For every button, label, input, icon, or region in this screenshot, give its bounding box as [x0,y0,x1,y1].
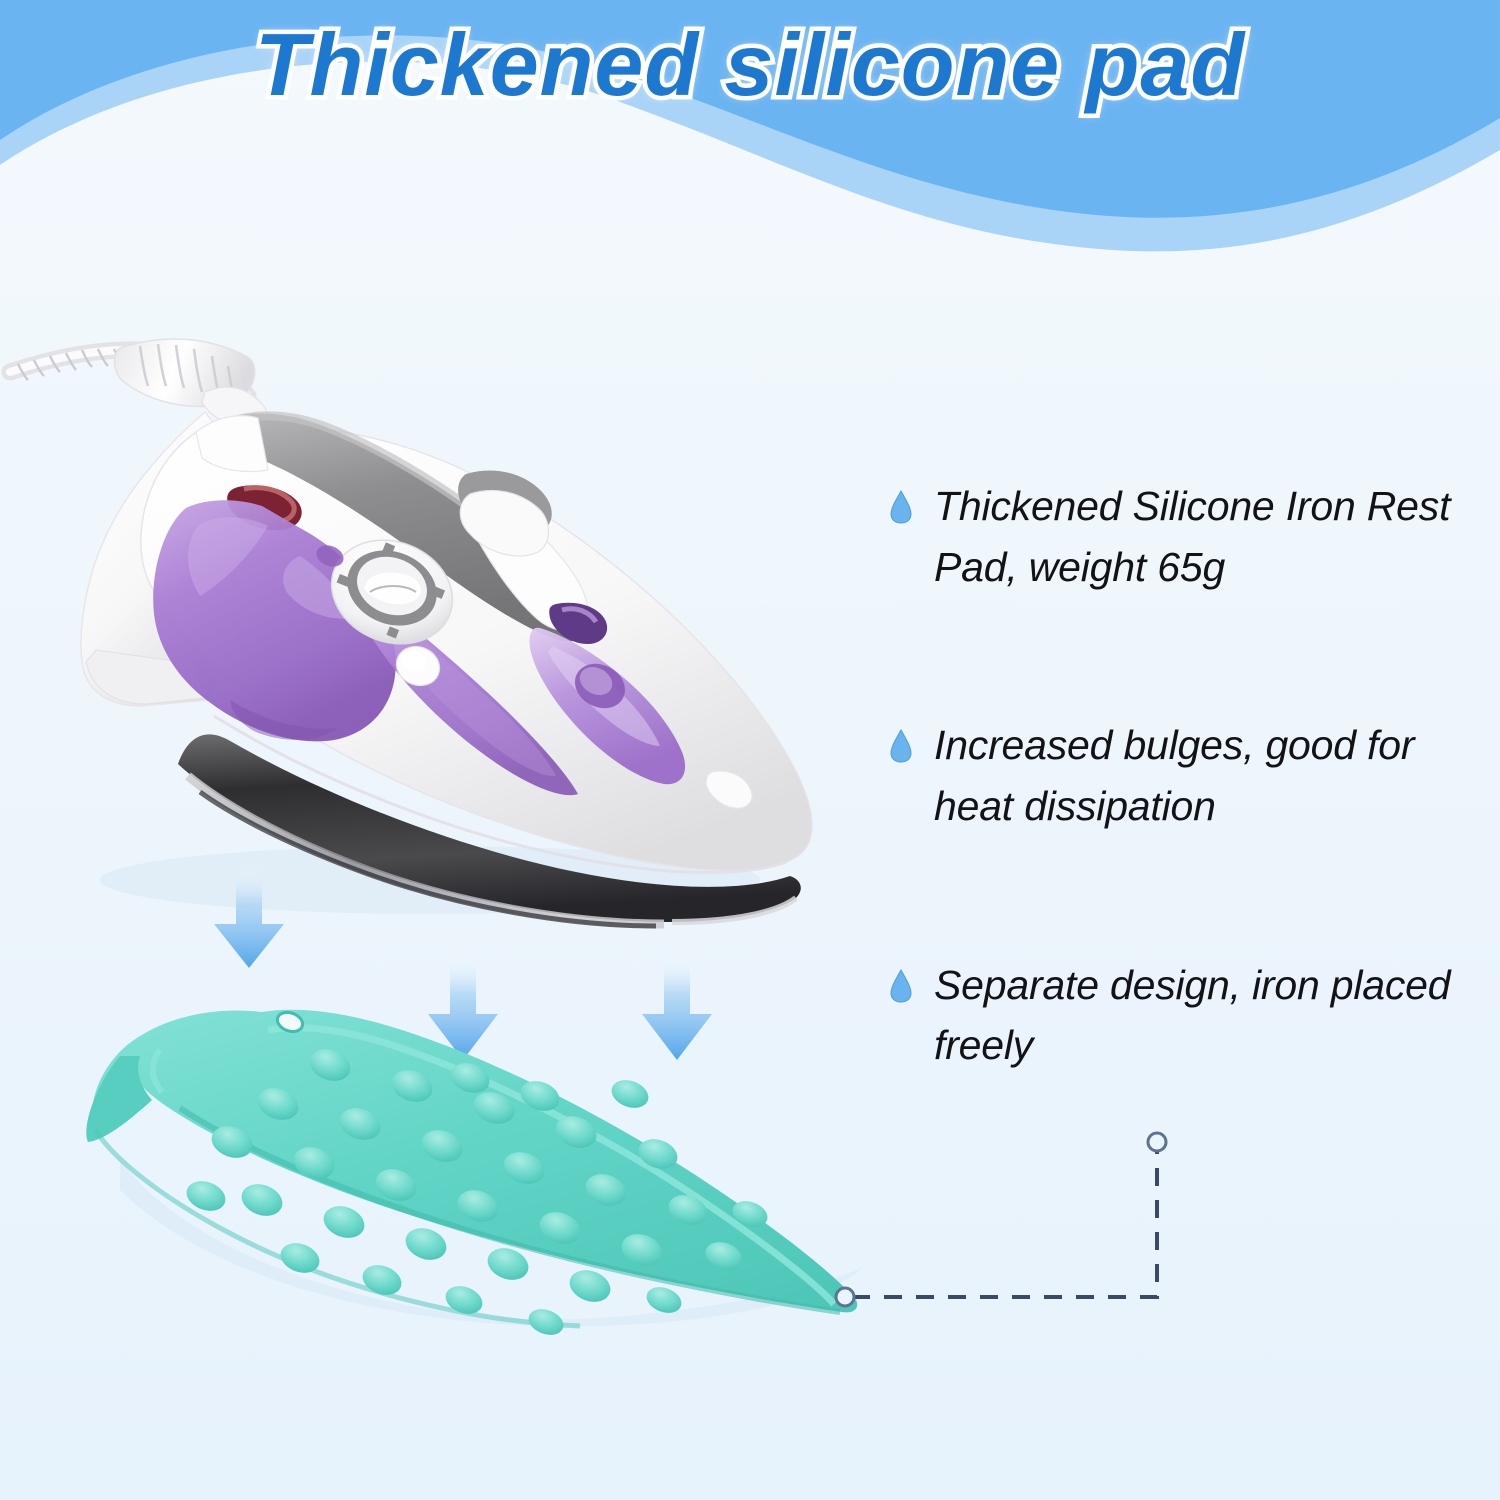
iron-spray-button [390,640,446,693]
water-drop-icon [890,969,912,1003]
pad-bumps [182,1044,771,1340]
downward-arrows [214,864,712,1060]
feature-text: Increased bulges, good for heat dissipat… [934,715,1475,836]
iron-handle [209,414,591,642]
infographic-canvas: Thickened silicone pad Thickened silicon… [0,0,1500,1500]
water-drop-icon [890,490,912,524]
list-item: Separate design, iron placed freely [890,955,1475,1076]
header-banner: Thickened silicone pad Thickened silicon… [0,0,1500,275]
pad-side-tab [86,1056,152,1142]
page-title: Thickened silicone pad [0,14,1500,116]
feature-text: Separate design, iron placed freely [934,955,1475,1076]
silicone-iron-rest-pad [86,1009,862,1339]
power-cord [10,339,268,430]
water-drop-icon [890,729,912,763]
feature-text: Thickened Silicone Iron Rest Pad, weight… [934,476,1475,597]
iron-body [141,425,812,871]
pad-body [92,1010,857,1313]
callout-endpoint-marker [836,1288,854,1306]
list-item: Thickened Silicone Iron Rest Pad, weight… [890,476,1475,597]
iron-steam-button [458,470,552,536]
iron-spray-nozzle [567,655,633,716]
pad-rim [268,1028,834,1304]
iron-soleplate [178,734,801,922]
dashed-callout-line [836,1133,1166,1306]
temperature-dial [316,522,468,661]
downward-arrow [214,864,284,968]
pad-hanging-hole [275,1009,306,1035]
downward-arrow [642,952,712,1060]
list-item: Increased bulges, good for heat dissipat… [890,715,1475,836]
iron-front-tab [706,771,752,808]
downward-arrow [428,952,498,1060]
feature-list: Thickened Silicone Iron Rest Pad, weight… [890,476,1475,1076]
iron-nose-reservoir [529,628,685,784]
iron-rear-shell [81,412,250,706]
iron-steam-vent [549,603,607,644]
iron-water-tank [153,500,395,741]
callout-endpoint-marker [1148,1133,1166,1151]
iron-indicator-window [227,485,302,530]
steam-iron [81,412,812,926]
